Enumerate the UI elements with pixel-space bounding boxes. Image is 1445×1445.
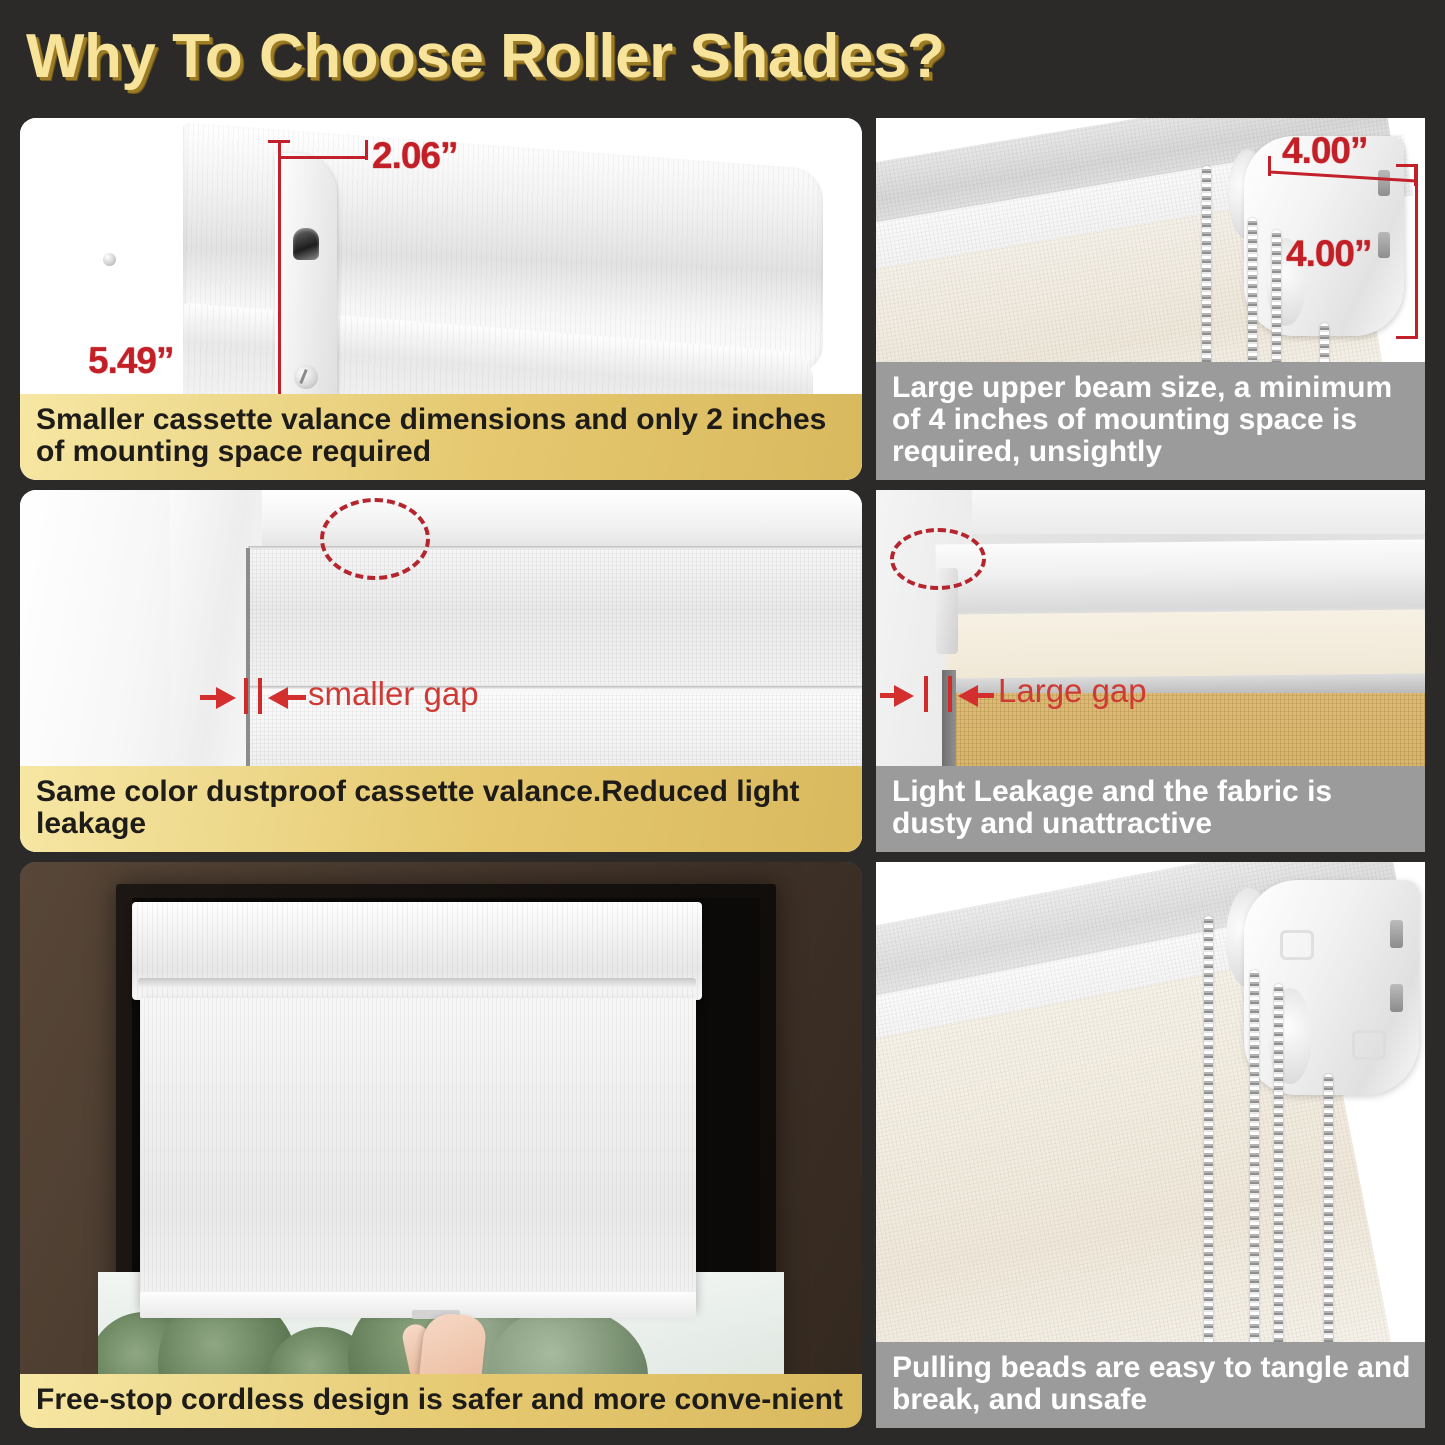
gap-tick-right-icon	[258, 678, 262, 714]
dim2-line-height	[1415, 164, 1418, 338]
gap-arrow-left-icon	[958, 685, 978, 707]
bead-chain-2	[1250, 970, 1259, 1380]
highlight-circle-icon	[890, 528, 986, 590]
panel-2-caption: Large upper beam size, a minimum of 4 in…	[876, 362, 1425, 480]
panel-1-caption: Smaller cassette valance dimensions and …	[20, 394, 862, 480]
panel-smaller-cassette: 2.06” 5.49” Smaller cassette valance dim…	[20, 118, 862, 480]
panel-cordless-design: Free-stop cordless design is safer and m…	[20, 862, 862, 1428]
panel-3-caption: Same color dustproof cassette valance.Re…	[20, 766, 862, 852]
bracket-screw-secondary-icon	[103, 253, 116, 266]
panel-5-caption: Free-stop cordless design is safer and m…	[20, 1374, 862, 1428]
shade-fabric	[140, 998, 696, 1308]
dimension-width-label: 2.06”	[372, 135, 458, 177]
panel-pulling-beads: Pulling beads are easy to tangle and bre…	[876, 862, 1425, 1428]
panel-5-image	[20, 862, 862, 1428]
dim-line-width	[278, 156, 368, 159]
gap-arrow-stem-right	[286, 695, 306, 700]
gap-arrow-stem-left	[880, 693, 898, 698]
large-gap-label: Large gap	[998, 672, 1147, 710]
panel-4-caption: Light Leakage and the fabric is dusty an…	[876, 766, 1425, 852]
gap-tick-right-icon	[948, 676, 952, 712]
dimension2-width-label: 4.00”	[1282, 130, 1368, 172]
mounting-slot-upper-icon	[1378, 170, 1390, 196]
gap-arrow-stem-left	[200, 695, 220, 700]
bead-chain-4	[1324, 1074, 1333, 1380]
roller-head-bracket	[1244, 880, 1419, 1095]
headrail-groove	[138, 978, 696, 987]
dimension-height-label: 5.49”	[88, 340, 174, 382]
panel-6-caption: Pulling beads are easy to tangle and bre…	[876, 1342, 1425, 1428]
bracket-emblem-secondary-icon	[1352, 1030, 1386, 1060]
bead-chain-1	[1204, 916, 1213, 1376]
mounting-slot-lower-icon	[1378, 232, 1390, 258]
gap-arrow-stem-right	[976, 693, 994, 698]
smaller-gap-label: smaller gap	[308, 675, 479, 713]
dimension2-height-label: 4.00”	[1286, 233, 1372, 275]
highlight-circle-icon	[320, 498, 430, 580]
gap-arrow-left-icon	[268, 687, 288, 709]
bracket-slot-icon	[293, 228, 319, 260]
header: Why To Choose Roller Shades?	[26, 18, 1226, 98]
mounting-slot-lower-icon	[1390, 984, 1403, 1012]
bead-chain-3	[1274, 984, 1283, 1380]
bracket-screw-icon	[294, 365, 318, 389]
panel-light-leakage: Large gap Light Leakage and the fabric i…	[876, 490, 1425, 852]
gap-tick-left-icon	[924, 676, 928, 712]
bracket-emblem-icon	[1280, 930, 1314, 960]
panel-large-upper-beam: 4.00” 4.00” Large upper beam size, a min…	[876, 118, 1425, 480]
panel-smaller-gap: smaller gap Same color dustproof cassett…	[20, 490, 862, 852]
page-title: Why To Choose Roller Shades?	[26, 18, 1226, 96]
mounting-slot-upper-icon	[1390, 920, 1403, 948]
comparison-grid: 2.06” 5.49” Smaller cassette valance dim…	[0, 108, 1445, 1438]
window-frame-top	[170, 490, 862, 548]
gap-tick-left-icon	[244, 678, 248, 714]
